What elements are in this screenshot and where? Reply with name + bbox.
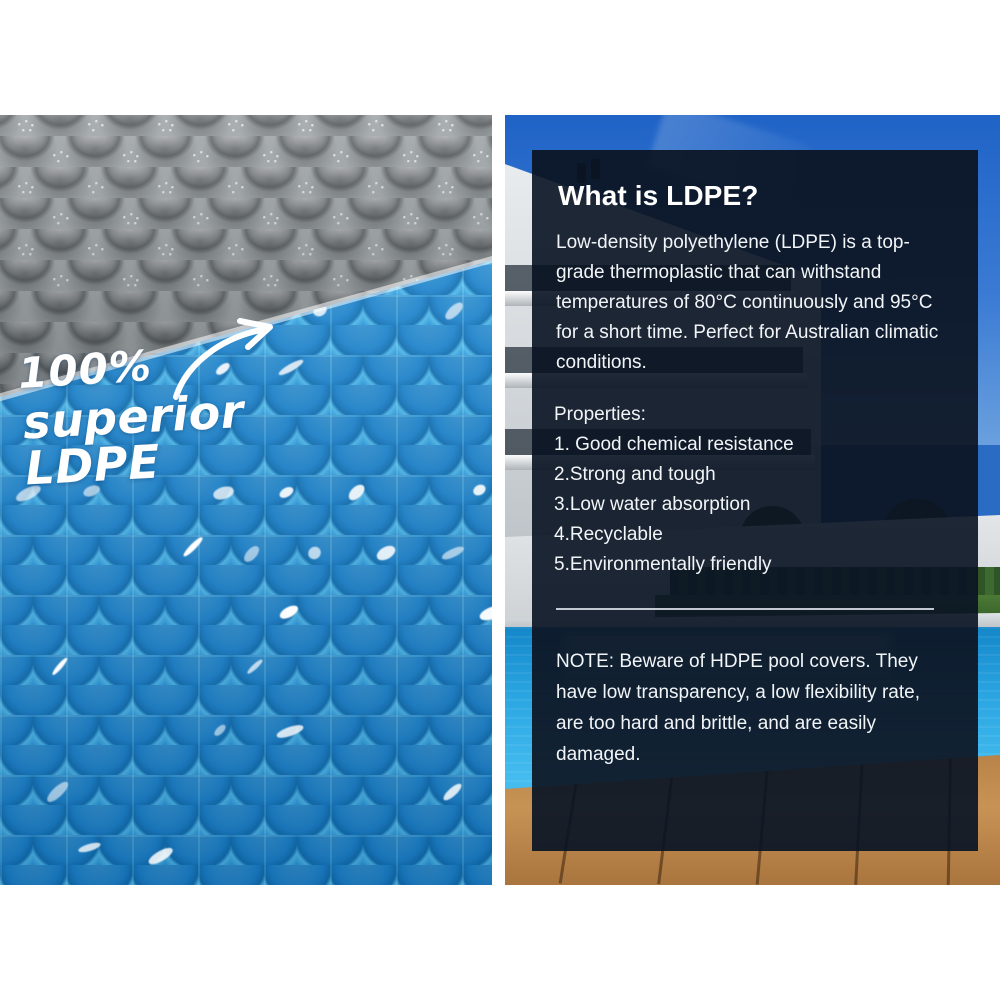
ldpe-info-card: What is LDPE? Low-density polyethylene (… bbox=[532, 150, 978, 851]
properties-list: 1. Good chemical resistance2.Strong and … bbox=[554, 430, 952, 580]
card-divider bbox=[556, 608, 934, 610]
property-item-1: 1. Good chemical resistance bbox=[554, 430, 952, 460]
card-note-paragraph: NOTE: Beware of HDPE pool covers. They h… bbox=[556, 646, 952, 770]
card-title: What is LDPE? bbox=[558, 180, 952, 212]
card-intro-paragraph: Low-density polyethylene (LDPE) is a top… bbox=[556, 228, 952, 378]
property-item-2: 2.Strong and tough bbox=[554, 460, 952, 490]
product-infographic: 100% superior LDPE bbox=[0, 0, 1000, 1000]
property-item-5: 5.Environmentally friendly bbox=[554, 550, 952, 580]
property-item-4: 4.Recyclable bbox=[554, 520, 952, 550]
property-item-3: 3.Low water absorption bbox=[554, 490, 952, 520]
product-photo-panel: 100% superior LDPE bbox=[0, 115, 492, 885]
properties-label: Properties: bbox=[554, 400, 952, 430]
pool-background-panel: What is LDPE? Low-density polyethylene (… bbox=[505, 115, 1000, 885]
